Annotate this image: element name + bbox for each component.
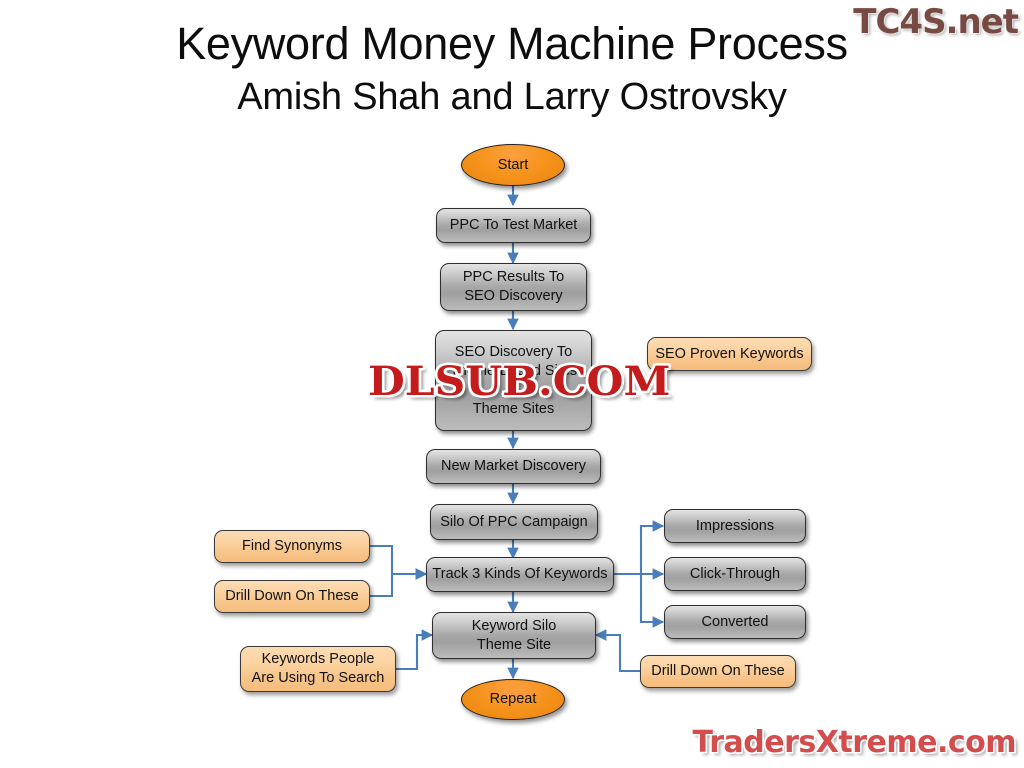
node-find-synonyms[interactable]: Find Synonyms	[214, 530, 370, 563]
node-seo-proven-keywords[interactable]: SEO Proven Keywords	[647, 337, 812, 371]
node-impressions[interactable]: Impressions	[664, 509, 806, 543]
node-label: Silo Of PPC Campaign	[440, 513, 587, 532]
node-converted[interactable]: Converted	[664, 605, 806, 639]
page-subtitle: Amish Shah and Larry Ostrovsky	[0, 72, 1024, 122]
edge-keywords-people-to-keyword-silo	[396, 635, 432, 669]
node-label: Start	[498, 156, 529, 175]
node-label: Click-Through	[690, 565, 780, 584]
edge-find-synonyms-to-track	[370, 546, 426, 574]
watermark-bottom-right: TradersXtreme.com	[693, 725, 1016, 760]
node-keywords-people-are-using-to-search[interactable]: Keywords People Are Using To Search	[240, 646, 396, 692]
node-silo-of-ppc-campaign[interactable]: Silo Of PPC Campaign	[430, 504, 598, 540]
node-label: Find Synonyms	[242, 537, 342, 556]
node-label: Keyword Silo Theme Site	[472, 617, 557, 655]
node-label: Repeat	[490, 690, 537, 709]
node-click-through[interactable]: Click-Through	[664, 557, 806, 591]
node-label: SEO Discovery To Theme-Based Sites Theme…	[450, 343, 577, 419]
node-label: Converted	[702, 613, 769, 632]
node-start[interactable]: Start	[461, 144, 565, 186]
node-drill-down-on-these-right[interactable]: Drill Down On These	[640, 655, 796, 688]
node-track-3-kinds-of-keywords[interactable]: Track 3 Kinds Of Keywords	[426, 557, 614, 592]
edge-drill-down-left-to-track	[370, 574, 426, 596]
node-label: New Market Discovery	[441, 457, 586, 476]
node-seo-discovery-to-theme-based-sites[interactable]: SEO Discovery To Theme-Based Sites Theme…	[435, 330, 592, 431]
node-label: PPC Results To SEO Discovery	[463, 268, 564, 306]
node-label: Drill Down On These	[651, 662, 785, 681]
node-ppc-results-to-seo-discovery[interactable]: PPC Results To SEO Discovery	[440, 263, 587, 311]
edge-track-to-impressions	[614, 526, 663, 574]
node-drill-down-on-these-left[interactable]: Drill Down On These	[214, 580, 370, 613]
node-keyword-silo-theme-site[interactable]: Keyword Silo Theme Site	[432, 612, 596, 659]
node-label: Track 3 Kinds Of Keywords	[432, 565, 607, 584]
node-label: PPC To Test Market	[450, 216, 578, 235]
node-label: Keywords People Are Using To Search	[252, 650, 385, 688]
node-ppc-to-test-market[interactable]: PPC To Test Market	[436, 208, 591, 243]
edge-track-to-converted	[614, 574, 663, 622]
watermark-top-right: TC4S.net	[853, 2, 1018, 42]
node-label: Impressions	[696, 517, 774, 536]
node-label: SEO Proven Keywords	[655, 345, 803, 364]
node-repeat[interactable]: Repeat	[461, 679, 565, 720]
node-new-market-discovery[interactable]: New Market Discovery	[426, 449, 601, 484]
slide-canvas: Keyword Money Machine Process Amish Shah…	[0, 0, 1024, 768]
node-label: Drill Down On These	[225, 587, 359, 606]
edge-drill-down-right-to-keyword-silo	[596, 635, 640, 671]
